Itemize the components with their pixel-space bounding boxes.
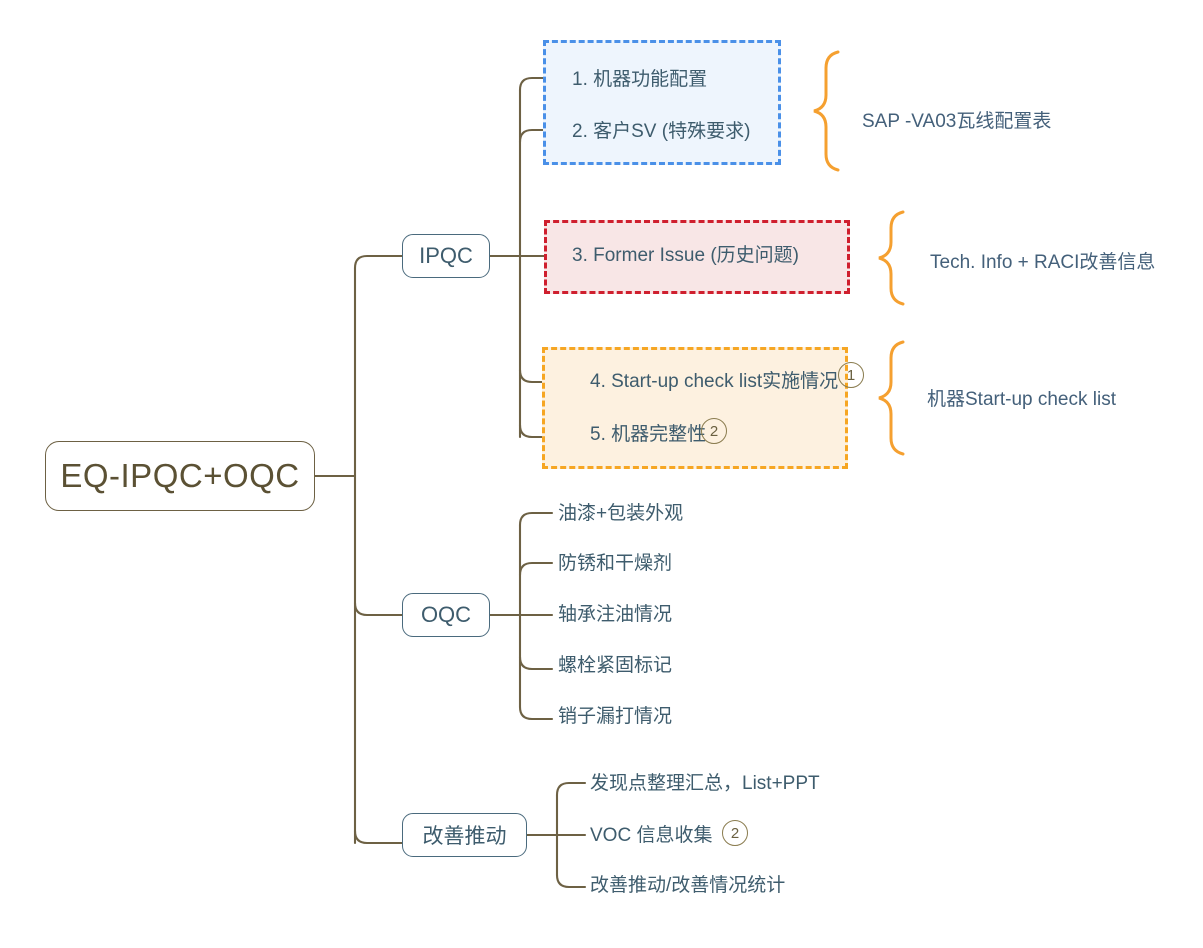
leaf-oqc-3[interactable]: 轴承注油情况 (558, 605, 672, 624)
connector-trunk-to-ipqc (355, 256, 402, 268)
badge-circle-1: 1 (838, 362, 864, 388)
root-node[interactable]: EQ-IPQC+OQC (45, 441, 315, 511)
branch-node-oqc[interactable]: OQC (402, 593, 490, 637)
leaf-oqc-4[interactable]: 螺栓紧固标记 (558, 656, 672, 675)
leaf-oqc-1[interactable]: 油漆+包装外观 (558, 504, 683, 523)
leaf-ipqc-1[interactable]: 1. 机器功能配置 (572, 70, 707, 89)
leaf-ipqc-3[interactable]: 3. Former Issue (历史问题) (572, 246, 799, 265)
annotation-blue: SAP -VA03瓦线配置表 (862, 112, 1051, 131)
branch-node-improve[interactable]: 改善推动 (402, 813, 527, 857)
brace-icon-orange (879, 342, 903, 454)
annotation-orange: 机器Start-up check list (927, 390, 1116, 409)
mindmap-canvas: EQ-IPQC+OQC IPQC OQC 改善推动 1. 机器功能配置 2. 客… (0, 0, 1203, 948)
leaf-ipqc-2[interactable]: 2. 客户SV (特殊要求) (572, 122, 750, 141)
branch-node-improve-label: 改善推动 (423, 820, 507, 850)
connector-oqc-child-5 (520, 707, 552, 719)
brace-icon-red (879, 212, 903, 304)
branch-node-ipqc[interactable]: IPQC (402, 234, 490, 278)
leaf-oqc-5[interactable]: 销子漏打情况 (558, 707, 672, 726)
leaf-improve-1[interactable]: 发现点整理汇总，List+PPT (590, 774, 820, 793)
leaf-improve-2[interactable]: VOC 信息收集 (590, 826, 712, 845)
connector-oqc-child-1 (520, 513, 552, 525)
connector-trunk-to-oqc (355, 603, 402, 615)
branch-node-oqc-label: OQC (421, 602, 471, 628)
connector-trunk-to-improve (355, 831, 402, 843)
region-highlight-blue (543, 40, 781, 165)
leaf-ipqc-4[interactable]: 4. Start-up check list实施情况 (590, 372, 838, 391)
branch-node-ipqc-label: IPQC (419, 243, 473, 269)
root-node-label: EQ-IPQC+OQC (60, 457, 299, 495)
connector-improve-child-1 (557, 783, 585, 795)
badge-circle-3: 2 (722, 820, 748, 846)
brace-icon-blue (814, 52, 838, 170)
connector-oqc-child-2 (520, 563, 552, 575)
connector-improve-child-3 (557, 875, 585, 887)
badge-circle-2: 2 (701, 418, 727, 444)
leaf-ipqc-5[interactable]: 5. 机器完整性 (590, 425, 706, 444)
annotation-red: Tech. Info + RACI改善信息 (930, 253, 1155, 272)
leaf-improve-3[interactable]: 改善推动/改善情况统计 (590, 876, 785, 895)
region-highlight-orange (542, 347, 848, 469)
leaf-oqc-2[interactable]: 防锈和干燥剂 (558, 554, 672, 573)
connector-oqc-child-4 (520, 657, 552, 669)
